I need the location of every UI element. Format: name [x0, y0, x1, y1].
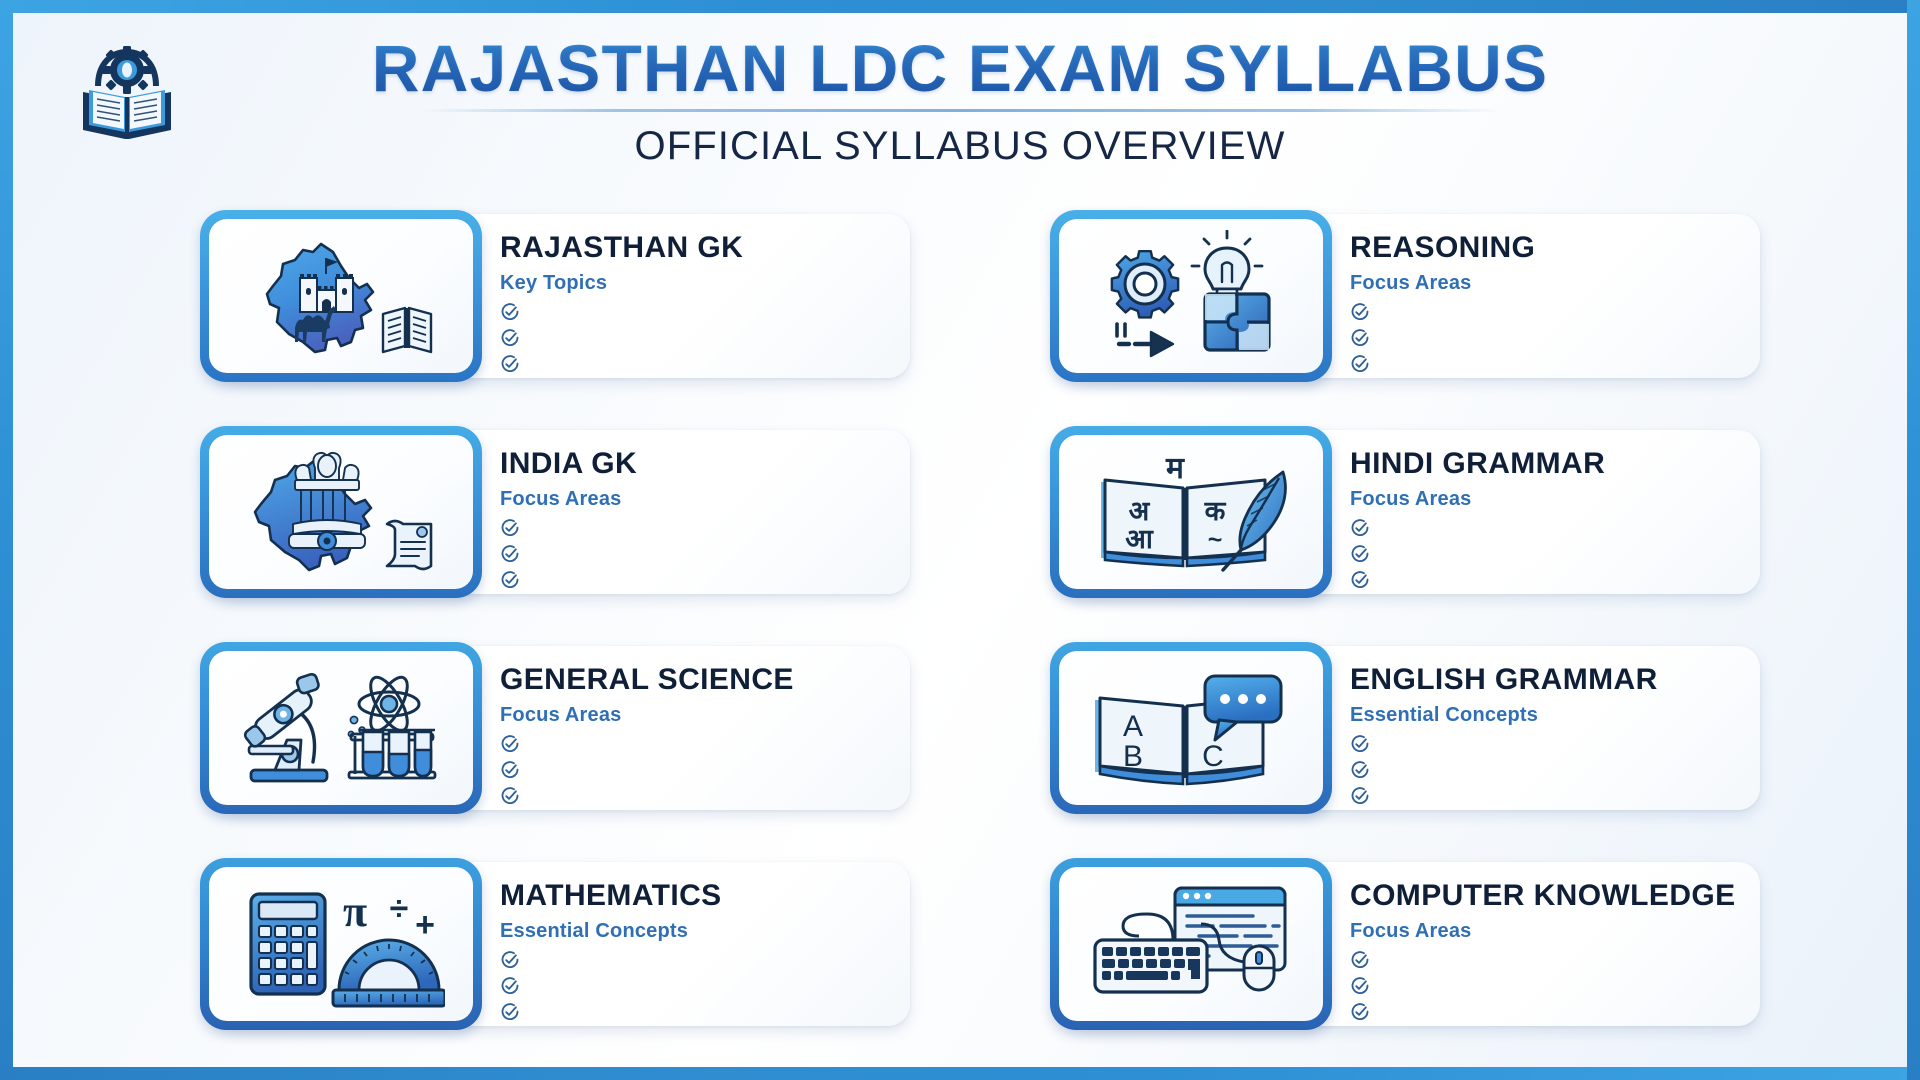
card-checklist	[1350, 950, 1738, 1022]
card-checklist	[500, 518, 888, 590]
poster-canvas: RAJASTHAN LDC EXAM SYLLABUS OFFICIAL SYL…	[0, 0, 1920, 1080]
syllabus-card[interactable]: RAJASTHAN GK Key Topics	[200, 210, 910, 382]
check-circle-icon	[1350, 570, 1370, 590]
card-icon-frame: म अ आ क ~	[1050, 426, 1332, 598]
card-text: REASONING Focus Areas	[1350, 232, 1738, 372]
devanagari-aa: आ	[1125, 524, 1154, 554]
tilde-mark: ~	[1208, 526, 1223, 554]
card-subtitle: Focus Areas	[500, 488, 888, 511]
card-subtitle: Focus Areas	[1350, 488, 1738, 511]
check-circle-icon	[500, 760, 520, 780]
syllabus-card[interactable]: COMPUTER KNOWLEDGE Focus Areas	[1050, 858, 1760, 1030]
title-divider	[420, 109, 1500, 112]
card-icon-inner: A B C	[1059, 651, 1323, 805]
check-circle-icon	[500, 976, 520, 996]
card-icon-inner	[209, 651, 473, 805]
card-subtitle: Essential Concepts	[1350, 704, 1738, 727]
syllabus-card[interactable]: REASONING Focus Areas	[1050, 210, 1760, 382]
check-circle-icon	[500, 302, 520, 322]
card-checklist	[500, 734, 888, 806]
abc-book-speech-bubble-icon: A B C	[1087, 662, 1295, 794]
poster-header: RAJASTHAN LDC EXAM SYLLABUS OFFICIAL SYL…	[0, 18, 1920, 178]
check-circle-icon	[500, 518, 520, 538]
syllabus-card[interactable]: INDIA GK Focus Areas	[200, 426, 910, 598]
calculator-pi-protractor-icon: π ÷ +	[237, 878, 445, 1010]
india-map-ashoka-emblem-scroll-icon	[237, 446, 445, 578]
keyboard-monitor-mouse-icon	[1087, 878, 1295, 1010]
card-icon-inner: म अ आ क ~	[1059, 435, 1323, 589]
card-icon-inner	[1059, 867, 1323, 1021]
check-circle-icon	[500, 1002, 520, 1022]
plus-symbol: +	[415, 906, 435, 944]
card-text: GENERAL SCIENCE Focus Areas	[500, 664, 888, 804]
card-checklist	[1350, 734, 1738, 806]
lightbulb-icon	[1192, 231, 1262, 302]
card-title: INDIA GK	[500, 448, 888, 480]
card-checklist	[1350, 518, 1738, 590]
syllabus-card-grid: RAJASTHAN GK Key Topics	[200, 210, 1760, 1040]
rajasthan-map-fort-camel-book-icon	[237, 230, 445, 362]
card-title: RAJASTHAN GK	[500, 232, 888, 264]
frame-border-top	[0, 0, 1920, 13]
card-icon-inner	[1059, 219, 1323, 373]
check-circle-icon	[1350, 302, 1370, 322]
card-icon-frame	[200, 210, 482, 382]
devanagari-ka: क	[1204, 496, 1227, 526]
check-circle-icon	[1350, 786, 1370, 806]
title-block: RAJASTHAN LDC EXAM SYLLABUS OFFICIAL SYL…	[200, 34, 1720, 169]
letter-b: B	[1123, 740, 1143, 773]
check-circle-icon	[500, 734, 520, 754]
check-circle-icon	[500, 950, 520, 970]
card-text: RAJASTHAN GK Key Topics	[500, 232, 888, 372]
syllabus-card[interactable]: GENERAL SCIENCE Focus Areas	[200, 642, 910, 814]
card-subtitle: Essential Concepts	[500, 920, 888, 943]
card-title: COMPUTER KNOWLEDGE	[1350, 880, 1738, 912]
check-circle-icon	[1350, 734, 1370, 754]
syllabus-card[interactable]: म अ आ क ~	[1050, 426, 1760, 598]
card-icon-frame: A B C	[1050, 642, 1332, 814]
card-icon-inner: π ÷ +	[209, 867, 473, 1021]
check-circle-icon	[1350, 760, 1370, 780]
book-gear-logo	[68, 40, 186, 144]
card-checklist	[500, 950, 888, 1022]
card-subtitle: Focus Areas	[500, 704, 888, 727]
card-title: GENERAL SCIENCE	[500, 664, 888, 696]
card-subtitle: Focus Areas	[1350, 920, 1738, 943]
card-text: ENGLISH GRAMMAR Essential Concepts	[1350, 664, 1738, 804]
microscope-icon	[237, 668, 330, 781]
check-circle-icon	[1350, 518, 1370, 538]
card-subtitle: Key Topics	[500, 272, 888, 295]
letter-a: A	[1123, 710, 1143, 743]
check-circle-icon	[500, 354, 520, 374]
syllabus-card[interactable]: π ÷ +	[200, 858, 910, 1030]
card-icon-frame	[200, 642, 482, 814]
card-subtitle: Focus Areas	[1350, 272, 1738, 295]
card-text: INDIA GK Focus Areas	[500, 448, 888, 588]
card-title: REASONING	[1350, 232, 1738, 264]
card-icon-inner	[209, 219, 473, 373]
card-title: MATHEMATICS	[500, 880, 888, 912]
check-circle-icon	[1350, 1002, 1370, 1022]
calculator-icon	[251, 894, 325, 994]
microscope-atom-testtubes-icon	[237, 662, 445, 794]
puzzle-icon	[1205, 294, 1269, 350]
card-title: ENGLISH GRAMMAR	[1350, 664, 1738, 696]
devanagari-ma: म	[1165, 452, 1185, 485]
check-circle-icon	[1350, 328, 1370, 348]
hindi-book-devanagari-quill-icon: म अ आ क ~	[1087, 446, 1295, 578]
card-text: COMPUTER KNOWLEDGE Focus Areas	[1350, 880, 1738, 1020]
page-subtitle: OFFICIAL SYLLABUS OVERVIEW	[200, 124, 1720, 169]
page-title: RAJASTHAN LDC EXAM SYLLABUS	[200, 34, 1720, 103]
check-circle-icon	[500, 570, 520, 590]
card-text: MATHEMATICS Essential Concepts	[500, 880, 888, 1020]
check-circle-icon	[500, 328, 520, 348]
card-checklist	[1350, 302, 1738, 374]
check-circle-icon	[1350, 544, 1370, 564]
arrow-icon	[1117, 324, 1173, 356]
letter-c: C	[1202, 740, 1224, 773]
check-circle-icon	[1350, 976, 1370, 996]
card-icon-frame	[1050, 210, 1332, 382]
check-circle-icon	[1350, 354, 1370, 374]
check-circle-icon	[1350, 950, 1370, 970]
gear-bulb-puzzle-arrow-icon	[1087, 230, 1295, 362]
protractor-icon	[333, 940, 445, 1006]
scroll-document-icon	[387, 521, 431, 569]
card-title: HINDI GRAMMAR	[1350, 448, 1738, 480]
divide-symbol: ÷	[390, 890, 409, 928]
check-circle-icon	[500, 544, 520, 564]
card-icon-frame	[1050, 858, 1332, 1030]
check-circle-icon	[500, 786, 520, 806]
card-icon-inner	[209, 435, 473, 589]
card-icon-frame	[200, 426, 482, 598]
pi-symbol: π	[343, 887, 367, 936]
open-book-icon	[383, 308, 431, 352]
card-checklist	[500, 302, 888, 374]
gear-icon	[1112, 251, 1178, 317]
frame-border-bottom	[0, 1067, 1920, 1080]
syllabus-card[interactable]: A B C ENGLISH GRAMMAR Ess	[1050, 642, 1760, 814]
atom-icon	[359, 672, 419, 736]
card-text: HINDI GRAMMAR Focus Areas	[1350, 448, 1738, 588]
card-icon-frame: π ÷ +	[200, 858, 482, 1030]
devanagari-a: अ	[1129, 496, 1151, 526]
